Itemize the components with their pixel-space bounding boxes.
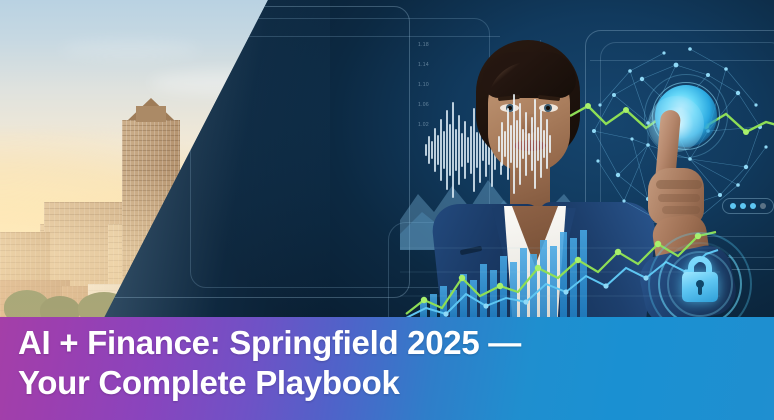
headline-line-2: Your Complete Playbook [18, 363, 758, 403]
knuckle-line [658, 194, 700, 202]
knuckle-line [662, 206, 700, 214]
banner-headline: AI + Finance: Springfield 2025 — Your Co… [18, 323, 758, 404]
cloud [60, 40, 200, 58]
axis-tick-label: 1.14 [418, 62, 429, 68]
title-banner: AI + Finance: Springfield 2025 — Your Co… [0, 317, 774, 420]
knuckle-line [656, 180, 702, 189]
face-scan-waveform [498, 85, 551, 203]
axis-tick-label: 1.10 [418, 82, 429, 88]
axis-tick-label: 1.18 [418, 42, 429, 48]
status-dots-indicator[interactable] [722, 198, 774, 214]
headline-line-1: AI + Finance: Springfield 2025 — [18, 323, 758, 363]
tower-crown-base [136, 106, 166, 122]
hero-banner-image: 1.18 1.14 1.10 1.06 1.02 [0, 0, 774, 420]
lock-keyhole-stem [698, 286, 702, 295]
